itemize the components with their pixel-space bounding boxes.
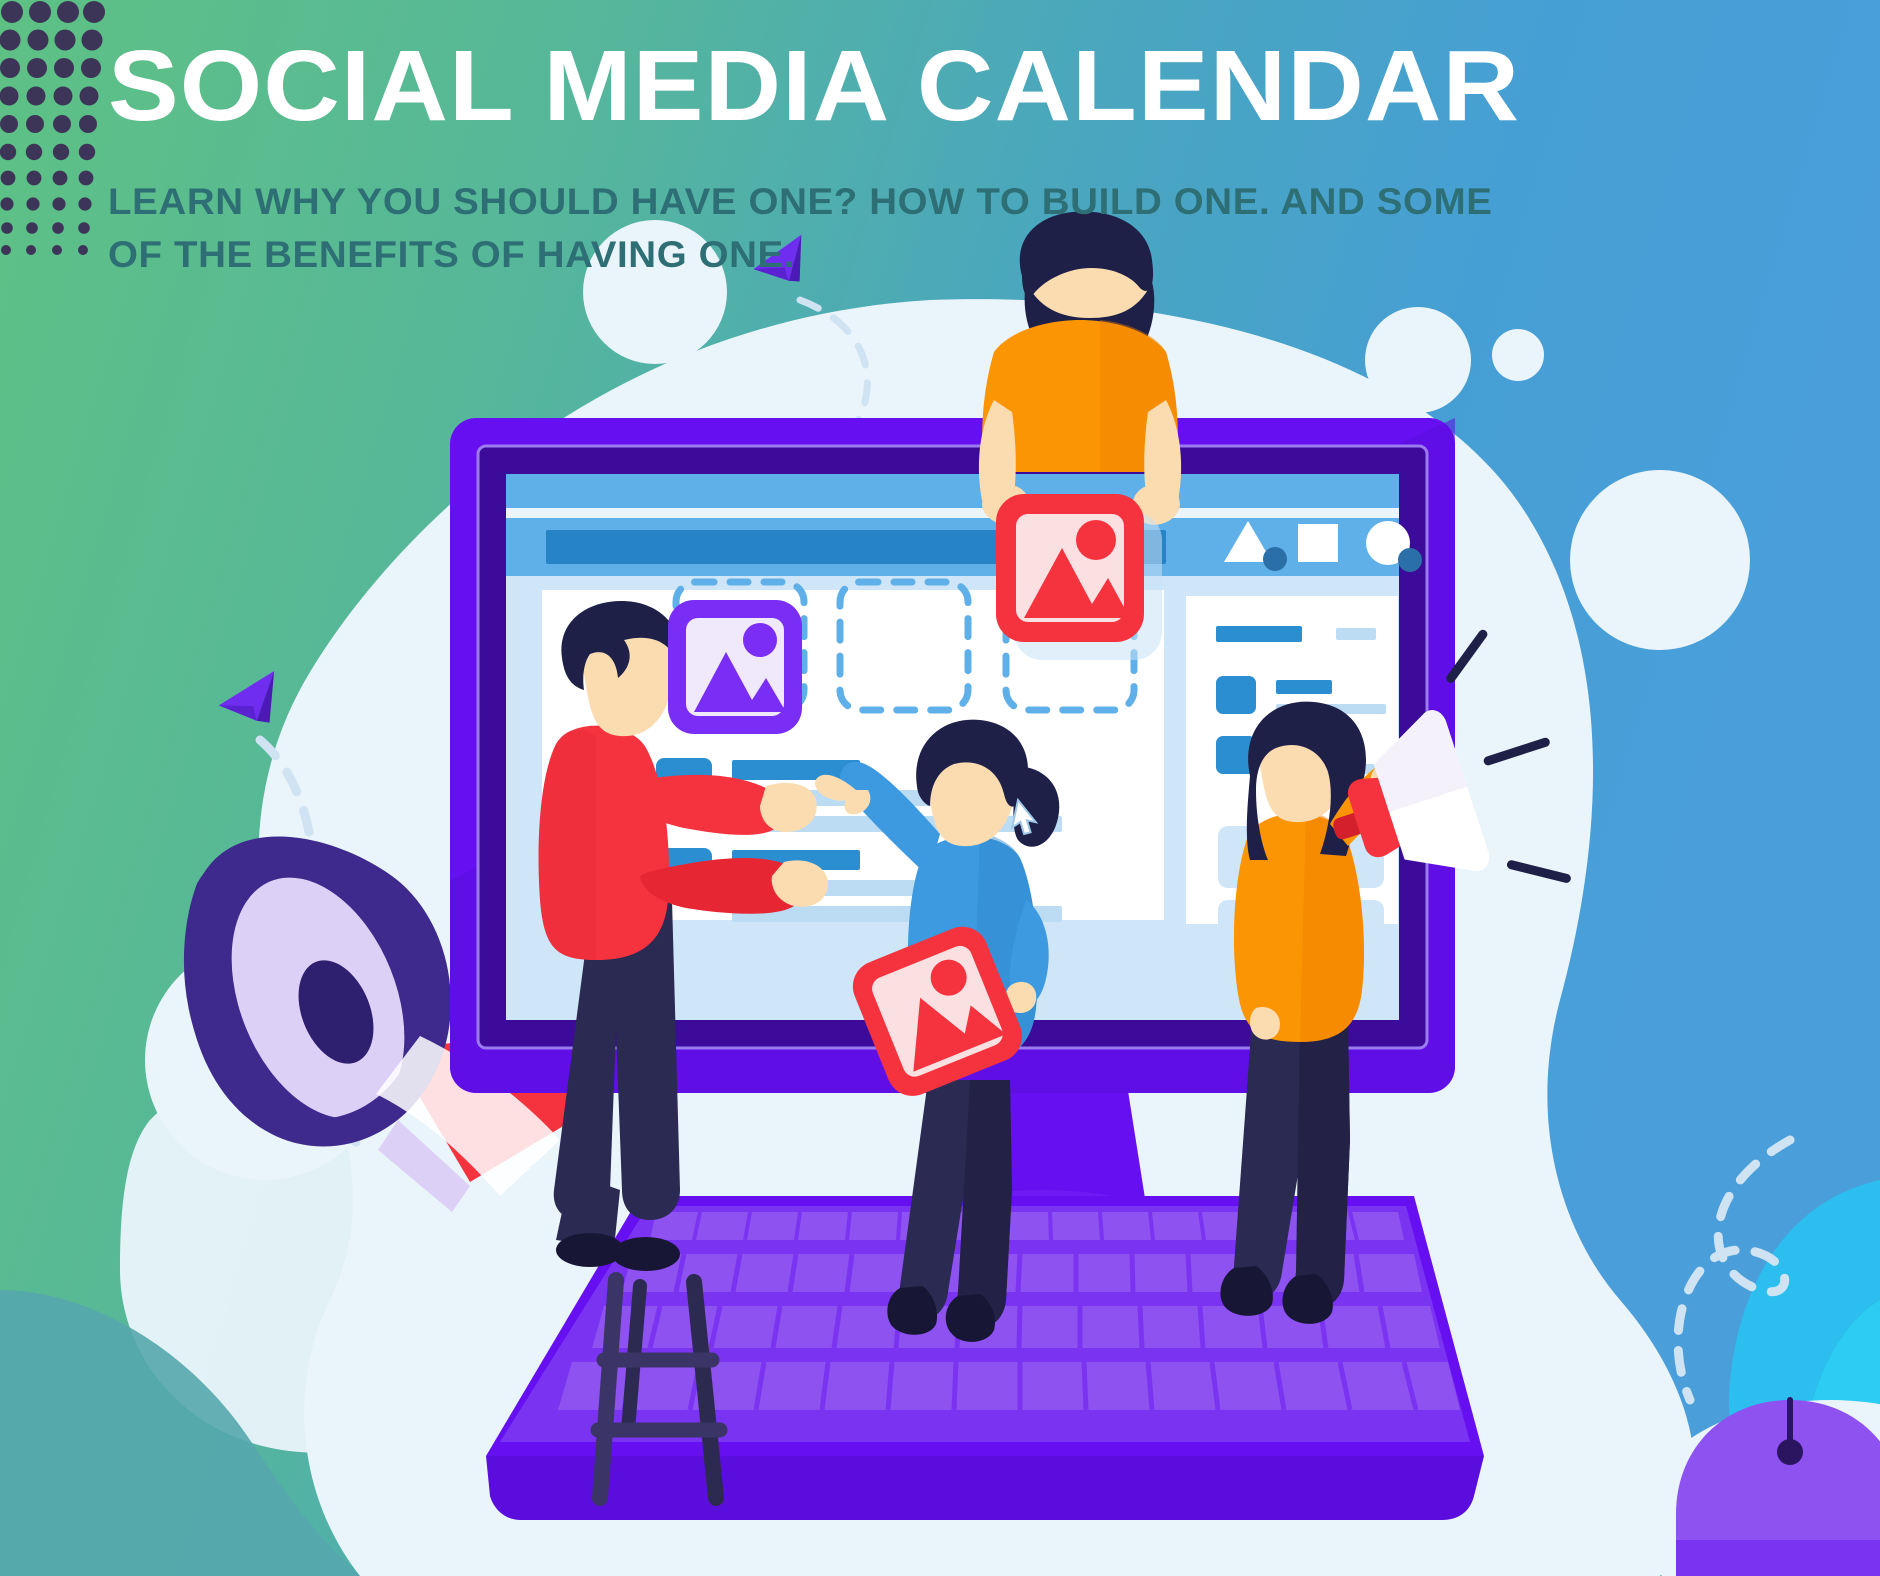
decor-circle-right-low	[1570, 470, 1750, 650]
shoe-right	[612, 1237, 680, 1271]
decor-circle-medium	[1365, 307, 1471, 413]
square-icon	[1298, 524, 1338, 562]
image-card-purple	[668, 600, 802, 734]
app-titlebar	[506, 474, 1399, 508]
decor-circle-small	[1492, 329, 1544, 381]
sidebar-header	[1216, 626, 1376, 642]
decor-circle-large	[583, 220, 727, 364]
background-layer	[0, 0, 1880, 1576]
infographic-canvas: SOCIAL MEDIA CALENDAR LEARN WHY YOU SHOU…	[0, 0, 1880, 1576]
image-card-red-top	[996, 494, 1162, 660]
